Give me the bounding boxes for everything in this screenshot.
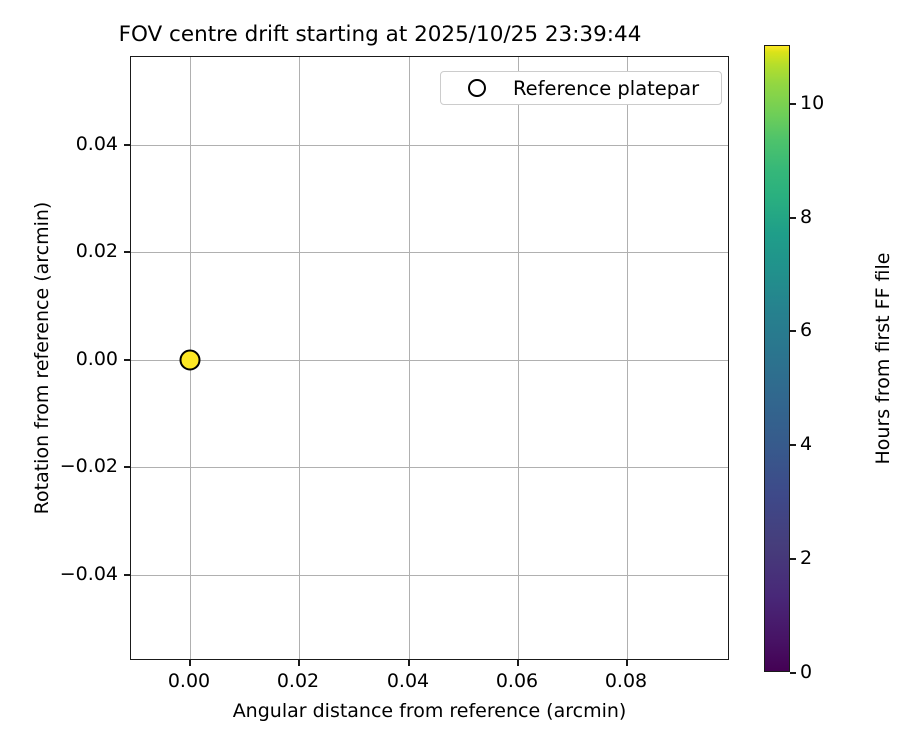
gridline-x-1 [299, 57, 300, 659]
gridline-x-4 [627, 57, 628, 659]
gridline-y-1 [131, 252, 728, 253]
ytick-label-4: −0.04 [60, 563, 118, 585]
x-axis-label: Angular distance from reference (arcmin) [130, 700, 729, 722]
xtick-3 [517, 660, 519, 666]
y-axis-label: Rotation from reference (arcmin) [31, 56, 53, 660]
gridline-x-3 [518, 57, 519, 659]
colorbar-tick-1 [790, 558, 796, 560]
xtick-label-4: 0.08 [605, 670, 647, 692]
colorbar-tick-label-5: 10 [800, 92, 824, 114]
colorbar-tick-3 [790, 330, 796, 332]
xtick-label-3: 0.06 [496, 670, 538, 692]
colorbar-tick-label-4: 8 [800, 206, 812, 228]
colorbar-tick-label-3: 6 [800, 319, 812, 341]
legend-marker-wrap [441, 79, 513, 97]
ytick-2 [124, 359, 130, 361]
colorbar[interactable] [764, 45, 790, 672]
colorbar-label: Hours from first FF file [872, 45, 894, 672]
colorbar-tick-label-2: 4 [800, 433, 812, 455]
xtick-2 [408, 660, 410, 666]
ytick-label-0: 0.04 [76, 133, 118, 155]
xtick-4 [626, 660, 628, 666]
colorbar-gradient [765, 46, 789, 671]
ytick-label-1: 0.02 [76, 240, 118, 262]
xtick-label-2: 0.04 [387, 670, 429, 692]
xtick-0 [189, 660, 191, 666]
gridline-y-4 [131, 575, 728, 576]
colorbar-tick-2 [790, 444, 796, 446]
colorbar-tick-label-1: 2 [800, 547, 812, 569]
colorbar-tick-4 [790, 217, 796, 219]
chart-title: FOV centre drift starting at 2025/10/25 … [0, 22, 760, 47]
xtick-label-0: 0.00 [168, 670, 210, 692]
gridline-y-2 [131, 360, 728, 361]
ytick-4 [124, 574, 130, 576]
gridline-y-3 [131, 467, 728, 468]
xtick-label-1: 0.02 [277, 670, 319, 692]
gridline-y-0 [131, 145, 728, 146]
ytick-0 [124, 144, 130, 146]
ytick-3 [124, 466, 130, 468]
ytick-label-2: 0.00 [76, 348, 118, 370]
colorbar-tick-5 [790, 103, 796, 105]
ytick-label-3: −0.02 [60, 455, 118, 477]
chart-legend[interactable]: Reference platepar [440, 71, 722, 105]
plot-axes-area [130, 56, 729, 660]
ytick-1 [124, 251, 130, 253]
legend-entry-label: Reference platepar [513, 77, 699, 100]
gridline-x-2 [409, 57, 410, 659]
data-point-reference[interactable] [180, 350, 201, 371]
figure-canvas: FOV centre drift starting at 2025/10/25 … [0, 0, 900, 750]
xtick-1 [298, 660, 300, 666]
colorbar-tick-0 [790, 672, 796, 674]
open-circle-icon [468, 79, 486, 97]
colorbar-tick-label-0: 0 [800, 661, 812, 683]
